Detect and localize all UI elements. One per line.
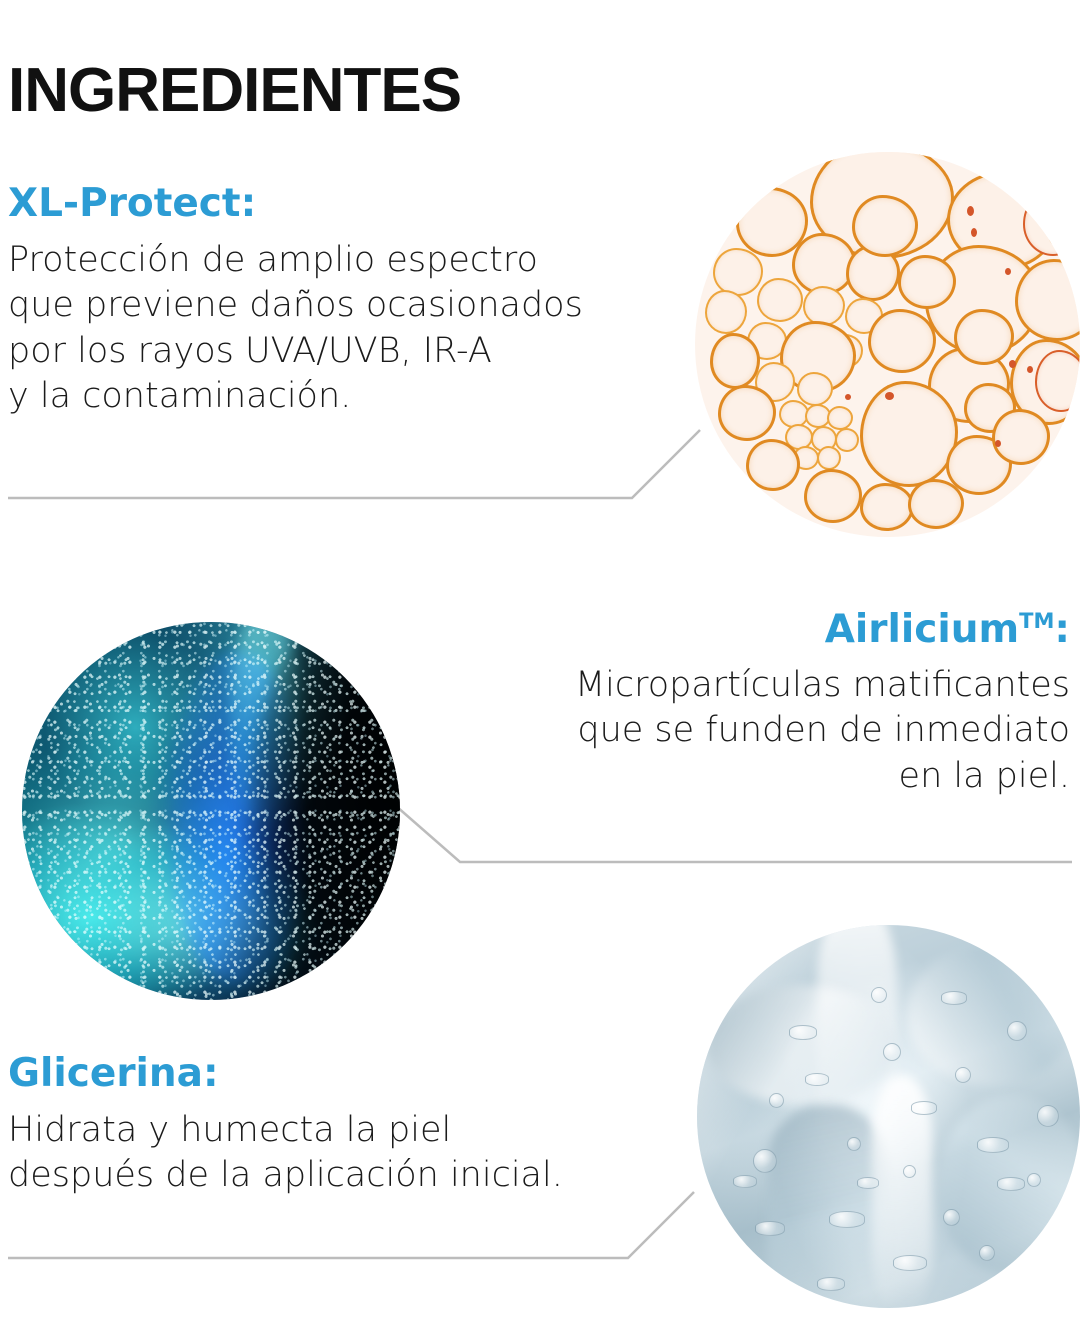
- ingredient-description-glicerina: Hidrata y humecta la piel después de la …: [8, 1108, 563, 1199]
- ingredient-heading-airlicium: AirliciumTM:: [575, 608, 1070, 653]
- ingredient-heading-xl-protect: XL-Protect:: [8, 182, 583, 227]
- ingredient-block-xl-protect: XL-Protect: Protección de amplio espectr…: [8, 182, 583, 420]
- plant-cell-microscopy-image: [695, 152, 1080, 537]
- description-line: en la piel.: [575, 754, 1070, 800]
- description-line: por los rayos UVA/UVB, IR-A: [8, 329, 583, 375]
- luminous-cyan-particles-image: [22, 622, 400, 1000]
- ingredient-name-airlicium: Airlicium: [825, 607, 1019, 652]
- translucent-gel-texture-image: [697, 925, 1080, 1308]
- trademark-symbol: TM: [1019, 609, 1054, 633]
- ingredient-description-xl-protect: Protección de amplio espectro que previe…: [8, 238, 583, 420]
- description-line: Protección de amplio espectro: [8, 238, 583, 284]
- description-line: Micropartículas matificantes: [575, 663, 1070, 709]
- ingredient-description-airlicium: Micropartículas matificantes que se fund…: [575, 663, 1070, 800]
- gel-texture: [697, 925, 1080, 1308]
- ingredient-block-glicerina: Glicerina: Hidrata y humecta la piel des…: [8, 1052, 563, 1199]
- connector-line-glicerina: [8, 1192, 694, 1258]
- description-line: Hidrata y humecta la piel: [8, 1108, 563, 1154]
- ingredients-infographic: INGREDIENTES XL-Protect: Protección de a…: [0, 0, 1080, 1337]
- description-line: que previene daños ocasionados: [8, 283, 583, 329]
- cell-texture: [695, 152, 1080, 537]
- ingredient-heading-glicerina: Glicerina:: [8, 1052, 563, 1097]
- page-title: INGREDIENTES: [8, 60, 461, 122]
- heading-colon: :: [1054, 607, 1070, 652]
- glow-texture: [22, 622, 400, 1000]
- description-line: y la contaminación.: [8, 374, 583, 420]
- connector-line-xl-protect: [8, 430, 700, 498]
- glow-speckles: [22, 622, 400, 1000]
- description-line: después de la aplicación inicial.: [8, 1153, 563, 1199]
- connector-line-airlicium: [396, 806, 1072, 862]
- description-line: que se funden de inmediato: [575, 708, 1070, 754]
- ingredient-block-airlicium: AirliciumTM: Micropartículas matificante…: [575, 608, 1070, 799]
